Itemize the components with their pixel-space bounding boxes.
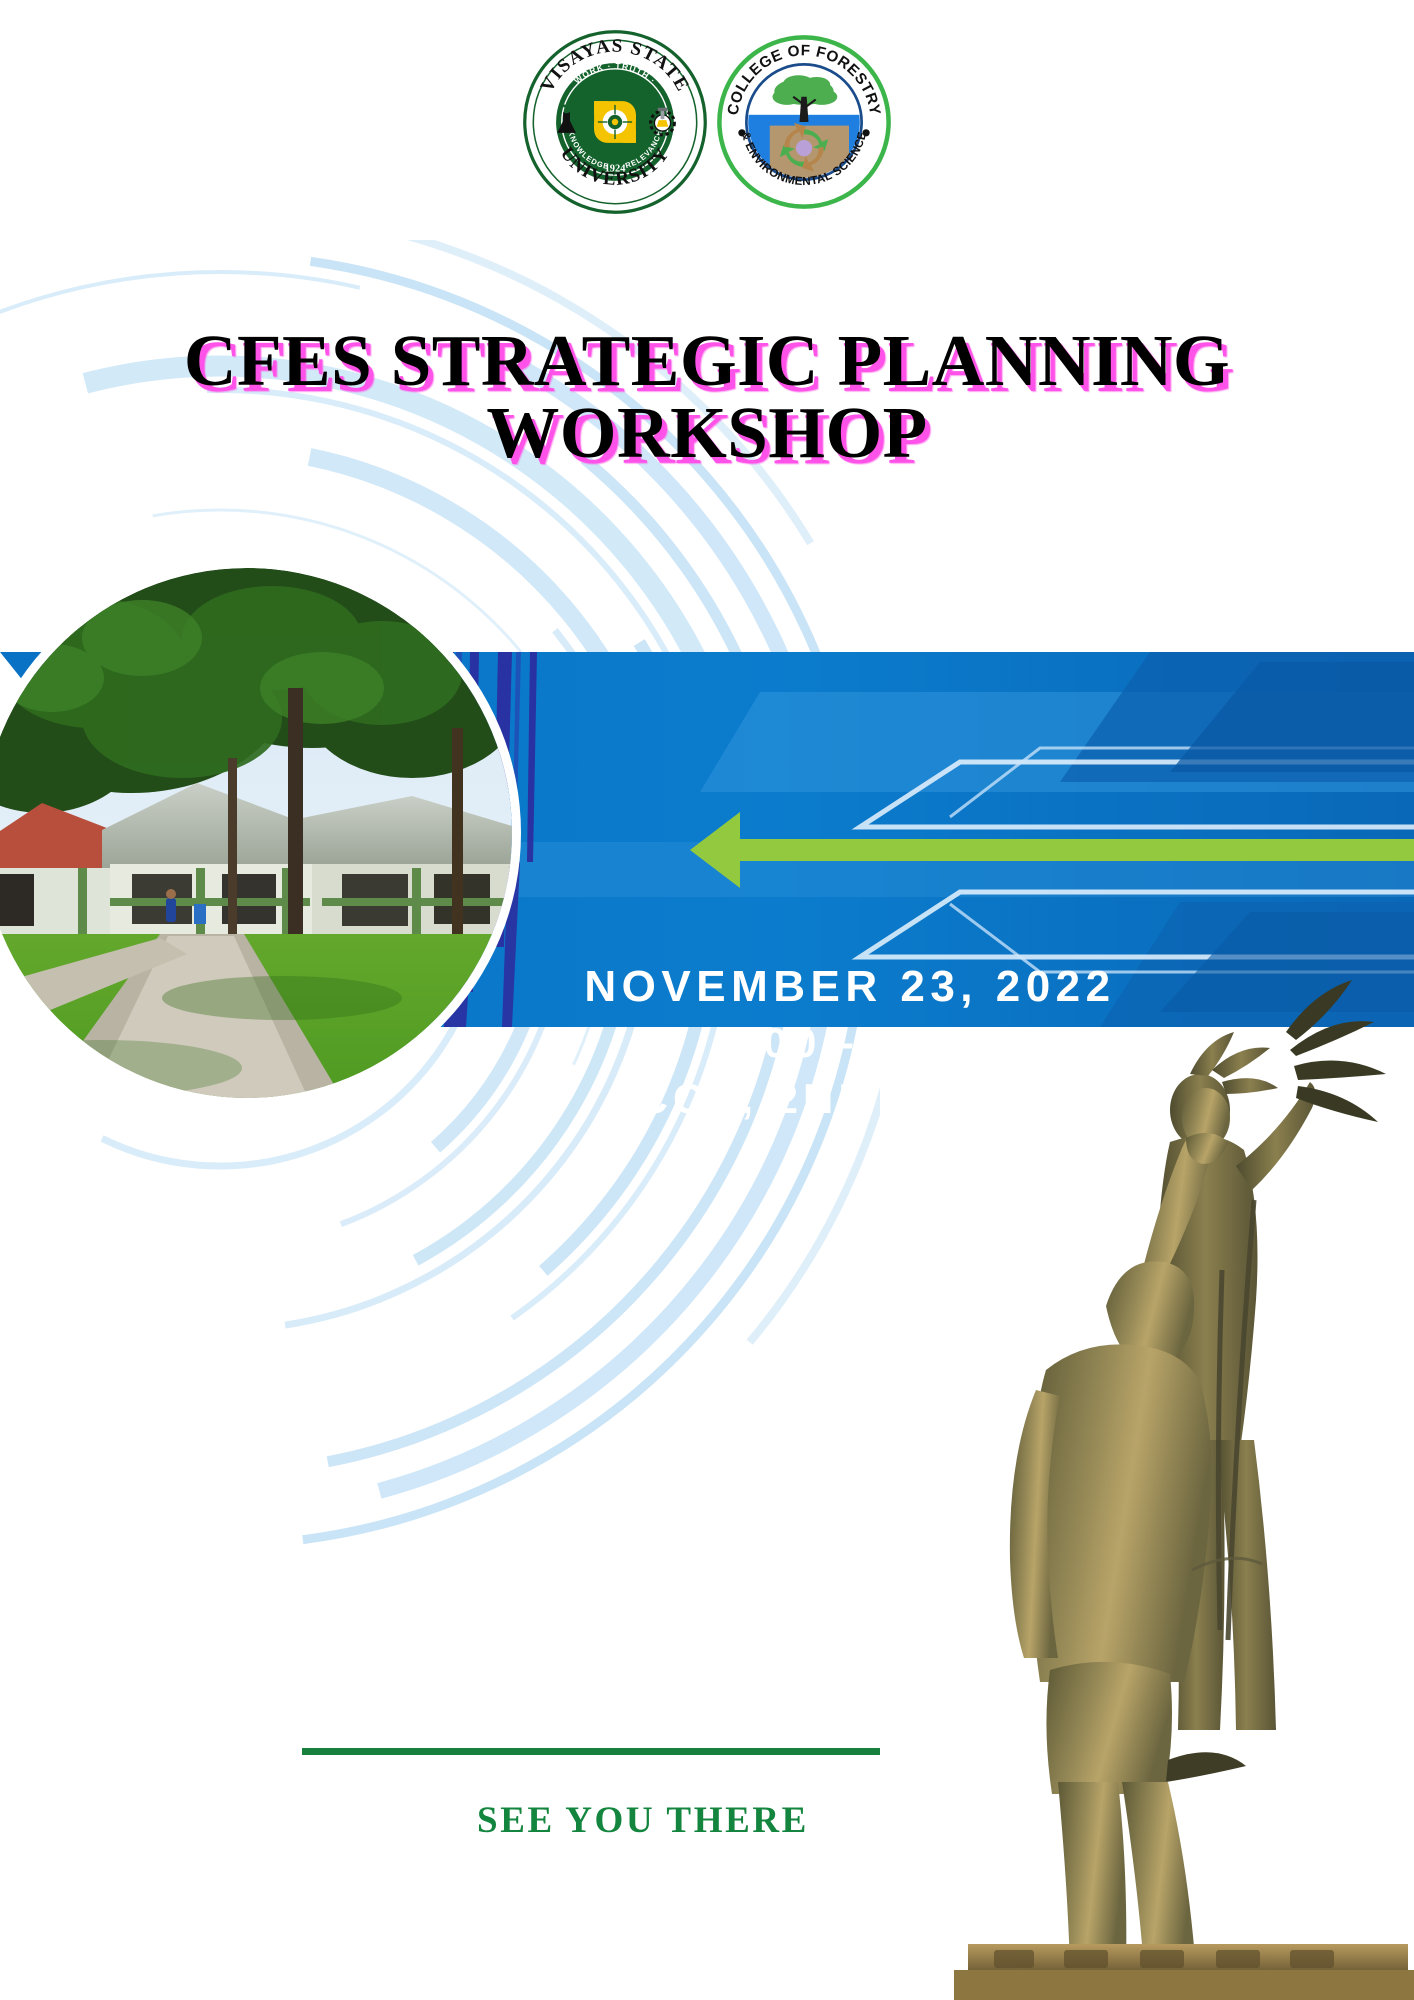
svg-text:1924: 1924 bbox=[605, 163, 627, 174]
poster-footer: SEE YOU THERE bbox=[0, 1748, 1414, 1842]
event-date: NOVEMBER 23, 2022 bbox=[500, 960, 1200, 1015]
event-time: 8:00 - 5:00 bbox=[500, 1015, 1200, 1071]
visayas-state-university-seal-icon: VISAYAS STATE UNIVERSITY WORK · TRUTH · … bbox=[520, 27, 710, 217]
event-details: NOVEMBER 23, 2022 8:00 - 5:00 CCE, 2ND F… bbox=[500, 960, 1200, 1126]
closing-message: SEE YOU THERE bbox=[0, 1799, 1414, 1842]
title-line-2: WORKSHOP bbox=[486, 392, 927, 473]
college-of-forestry-seal-icon: COLLEGE OF FORESTRY & ENVIRONMENTAL SCIE… bbox=[714, 32, 894, 212]
event-poster: VISAYAS STATE UNIVERSITY WORK · TRUTH · … bbox=[0, 0, 1414, 2000]
campus-building-photograph bbox=[0, 568, 512, 1098]
horizontal-rule-divider bbox=[302, 1748, 880, 1755]
event-venue: CCE, 2ND FLOOR bbox=[500, 1071, 1200, 1126]
logo-row: VISAYAS STATE UNIVERSITY WORK · TRUTH · … bbox=[0, 22, 1414, 222]
page-title: CFES STRATEGIC PLANNING WORKSHOP bbox=[0, 325, 1414, 470]
title-line-1: CFES STRATEGIC PLANNING bbox=[184, 320, 1230, 401]
